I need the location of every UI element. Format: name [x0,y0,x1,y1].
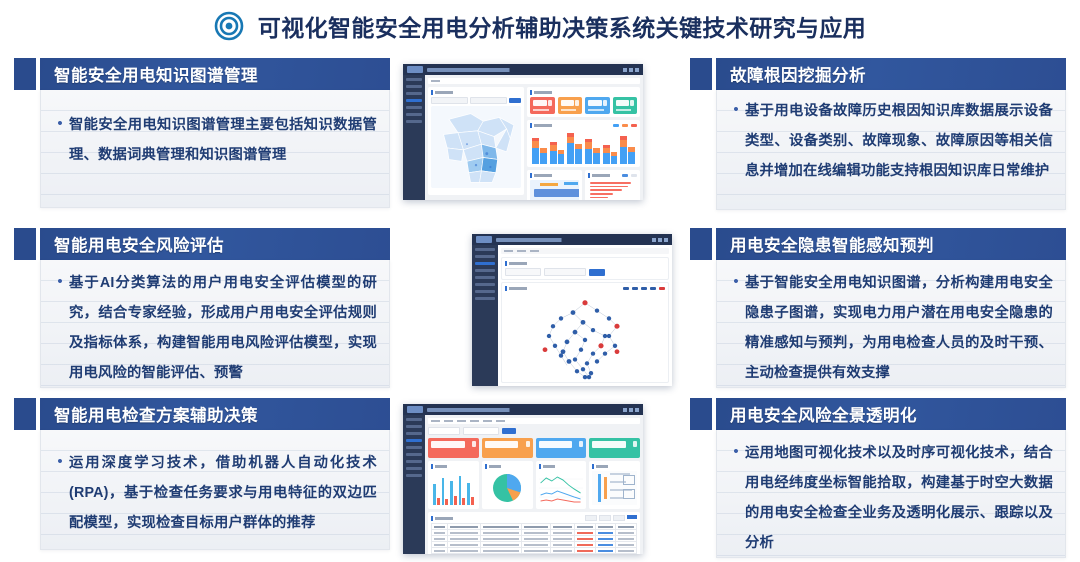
app-sidebar[interactable] [472,245,498,386]
stacked-bar-chart-panel[interactable] [527,120,640,167]
header-accent-block [690,58,712,90]
panel-title [431,464,476,469]
header-bar: 用电安全隐患智能感知预判 [716,228,1066,260]
bullet-row: • 运用地图可视化技术以及时序可视化技术，结合用电经纬度坐标智能拾取，构建基于时… [727,438,1065,558]
records-table[interactable] [431,523,637,554]
app-titlebar [403,64,643,75]
header-bar: 智能安全用电知识图谱管理 [40,58,390,90]
bullet-icon: • [51,448,69,538]
stat-card-group [530,97,637,114]
force-directed-graph[interactable] [505,293,665,381]
app-content [425,415,643,554]
header-bar: 用电安全风险全景透明化 [716,398,1066,430]
panel-title [505,261,665,266]
type-select[interactable] [505,268,541,276]
search-button[interactable] [509,98,521,103]
china-province-map[interactable] [431,106,521,188]
card-body: • 基于智能安全用电知识图谱，分析构建用电安全隐患子图谱，实现电力用户潜在用电安… [716,260,1066,388]
card-title: 智能用电安全风险评估 [40,232,224,256]
line-chart [539,471,584,505]
word-cloud-panel[interactable] [527,170,582,200]
card-header: 用电安全隐患智能感知预判 [690,228,1066,260]
stacked-bar-chart [530,130,637,164]
app-logo [407,406,423,413]
inspection-dashboard-screenshot[interactable] [403,404,643,554]
table-toolbar[interactable] [585,515,637,521]
card-title: 用电安全隐患智能感知预判 [716,232,934,256]
card-body-text: 智能安全用电知识图谱管理主要包括知识数据管理、数据词典管理和知识图谱管理 [69,110,389,170]
line-chart-panel[interactable] [536,461,587,509]
app-content [425,75,643,200]
graph-panel[interactable] [501,282,669,383]
diagram-panel[interactable] [589,461,640,509]
page-title-text: 可视化智能安全用电分析辅助决策系统关键技术研究与应用 [258,9,866,43]
card-header: 智能安全用电知识图谱管理 [14,58,390,90]
word-cloud [530,180,579,200]
panel-title [530,90,637,95]
bar-group [620,130,635,164]
bar-group [585,130,600,164]
card-body-text: 运用地图可视化技术以及时序可视化技术，结合用电经纬度坐标智能拾取，构建基于时空大… [745,438,1065,558]
card-body-text: 基于AI分类算法的用户用电安全评估模型的研究，结合专家经验，形成用户用电安全评估… [69,268,389,388]
stat-card[interactable] [558,97,583,114]
chart-legend [622,174,637,177]
header-bar: 智能用电检查方案辅助决策 [40,398,390,430]
card-knowledge-graph-management[interactable]: 智能安全用电知识图谱管理 • 智能安全用电知识图谱管理主要包括知识数据管理、数据… [14,58,390,208]
date-select[interactable] [470,97,507,104]
panel-title [588,173,637,178]
breadcrumb [501,248,669,254]
filter-select[interactable] [431,97,468,104]
titlebar-icons [623,408,639,412]
knowledge-graph-screenshot[interactable] [472,234,672,386]
card-hazard-perception-prediction[interactable]: 用电安全隐患智能感知预判 • 基于智能安全用电知识图谱，分析构建用电安全隐患子图… [690,228,1066,388]
card-body: • 运用深度学习技术，借助机器人自动化技术(RPA)，基于检查任务要求与用电特征… [40,430,390,550]
card-header: 故障根因挖掘分析 [690,58,1066,90]
panel-title [431,515,637,521]
grouped-bar-chart [431,471,476,505]
horizontal-bar-chart [588,180,637,200]
card-risk-panorama-transparency[interactable]: 用电安全风险全景透明化 • 运用地图可视化技术以及时序可视化技术，结合用电经纬度… [690,398,1066,558]
titlebar-icons [652,238,668,242]
filter-toolbar[interactable] [428,427,640,435]
card-title: 故障根因挖掘分析 [716,62,866,86]
card-header: 智能用电安全风险评估 [14,228,390,260]
pie-chart-panel[interactable] [482,461,533,509]
app-logo [407,66,423,73]
bullet-row: • 基于智能安全用电知识图谱，分析构建用电安全隐患子图谱，实现电力用户潜在用电安… [727,268,1065,388]
bullet-icon: • [727,268,745,388]
stat-card-group [428,438,640,458]
card-body-text: 基于智能安全用电知识图谱，分析构建用电安全隐患子图谱，实现电力用户潜在用电安全隐… [745,268,1065,388]
chart-legend [613,124,637,127]
header-accent-block [14,58,36,90]
bullet-icon: • [727,96,745,186]
card-body: • 基于用电设备故障历史根因知识库数据展示设备类型、设备类别、故障现象、故障原因… [716,90,1066,210]
app-sidebar[interactable] [403,415,425,554]
slide-root: 可视化智能安全用电分析辅助决策系统关键技术研究与应用 智能安全用电知识图谱管理 … [0,0,1080,562]
stat-card[interactable] [589,438,640,458]
schematic-diagram [592,471,637,505]
stat-card[interactable] [530,97,555,114]
graph-legend [623,287,665,290]
app-content [498,245,672,386]
breadcrumb-tabs[interactable] [428,418,640,424]
bullet-icon: • [51,110,69,170]
stat-card[interactable] [613,97,638,114]
bullet-row: • 基于用电设备故障历史根因知识库数据展示设备类型、设备类别、故障现象、故障原因… [727,96,1065,186]
bar-group [532,130,547,164]
bullet-row: • 运用深度学习技术，借助机器人自动化技术(RPA)，基于检查任务要求与用电特征… [51,448,389,538]
card-body: • 基于AI分类算法的用户用电安全评估模型的研究，结合专家经验，形成用户用电安全… [40,260,390,388]
card-body-text: 运用深度学习技术，借助机器人自动化技术(RPA)，基于检查任务要求与用电特征的双… [69,448,389,538]
card-body-text: 基于用电设备故障历史根因知识库数据展示设备类型、设备类别、故障现象、故障原因等相… [745,96,1065,186]
stat-card[interactable] [482,438,533,458]
target-bullseye-icon [214,11,244,41]
pie-chart [485,471,530,505]
app-logo [476,236,492,243]
bar-group [603,130,618,164]
card-title: 智能用电检查方案辅助决策 [40,402,258,426]
bar-chart-panel[interactable] [428,461,479,509]
breadcrumb [428,78,640,84]
query-button[interactable] [589,269,605,276]
summary-stats-panel [527,87,640,117]
header-bar: 智能用电安全风险评估 [40,228,390,260]
bullet-icon: • [727,438,745,558]
card-body: • 运用地图可视化技术以及时序可视化技术，结合用电经纬度坐标智能拾取，构建基于时… [716,430,1066,558]
card-inspection-plan-decision[interactable]: 智能用电检查方案辅助决策 • 运用深度学习技术，借助机器人自动化技术(RPA)，… [14,398,390,550]
card-body: • 智能安全用电知识图谱管理主要包括知识数据管理、数据词典管理和知识图谱管理 [40,90,390,208]
map-dashboard-screenshot[interactable] [403,64,643,200]
table-row[interactable] [432,554,637,555]
filter-select[interactable] [428,427,460,435]
app-title-placeholder [496,238,652,242]
search-button[interactable] [502,428,516,434]
stat-card[interactable] [428,438,479,458]
panel-title [530,123,637,128]
horizontal-bar-panel[interactable] [585,170,640,200]
bullet-row: • 基于AI分类算法的用户用电安全评估模型的研究，结合专家经验，形成用户用电安全… [51,268,389,388]
records-table-panel[interactable] [428,512,640,554]
app-title-placeholder [427,408,623,412]
card-title: 用电安全风险全景透明化 [716,402,917,426]
app-titlebar [403,404,643,415]
keyword-input[interactable] [544,268,586,276]
panel-title [505,286,665,291]
app-title-placeholder [427,68,623,72]
header-accent-block [14,398,36,430]
region-map-panel[interactable] [428,87,524,195]
bar-group [550,130,565,164]
header-accent-block [690,228,712,260]
panel-title [530,173,579,178]
page-title: 可视化智能安全用电分析辅助决策系统关键技术研究与应用 [0,6,1080,46]
panel-title [592,464,637,469]
pie-chart-svg [491,472,523,504]
date-select[interactable] [463,427,499,435]
header-accent-block [690,398,712,430]
card-header: 智能用电检查方案辅助决策 [14,398,390,430]
card-title: 智能安全用电知识图谱管理 [40,62,258,86]
header-bar: 故障根因挖掘分析 [716,58,1066,90]
card-fault-root-cause-analysis[interactable]: 故障根因挖掘分析 • 基于用电设备故障历史根因知识库数据展示设备类型、设备类别、… [690,58,1066,210]
query-filter-panel[interactable] [501,257,669,280]
app-titlebar [472,234,672,245]
bullet-row: • 智能安全用电知识图谱管理主要包括知识数据管理、数据词典管理和知识图谱管理 [51,110,389,170]
bullet-icon: • [51,268,69,388]
header-accent-block [14,228,36,260]
stat-card[interactable] [536,438,587,458]
panel-title [431,90,521,95]
card-header: 用电安全风险全景透明化 [690,398,1066,430]
app-sidebar[interactable] [403,75,425,200]
stat-card[interactable] [585,97,610,114]
panel-title [539,464,584,469]
titlebar-icons [623,68,639,72]
card-risk-assessment[interactable]: 智能用电安全风险评估 • 基于AI分类算法的用户用电安全评估模型的研究，结合专家… [14,228,390,388]
bar-group [567,130,582,164]
panel-title [485,464,530,469]
